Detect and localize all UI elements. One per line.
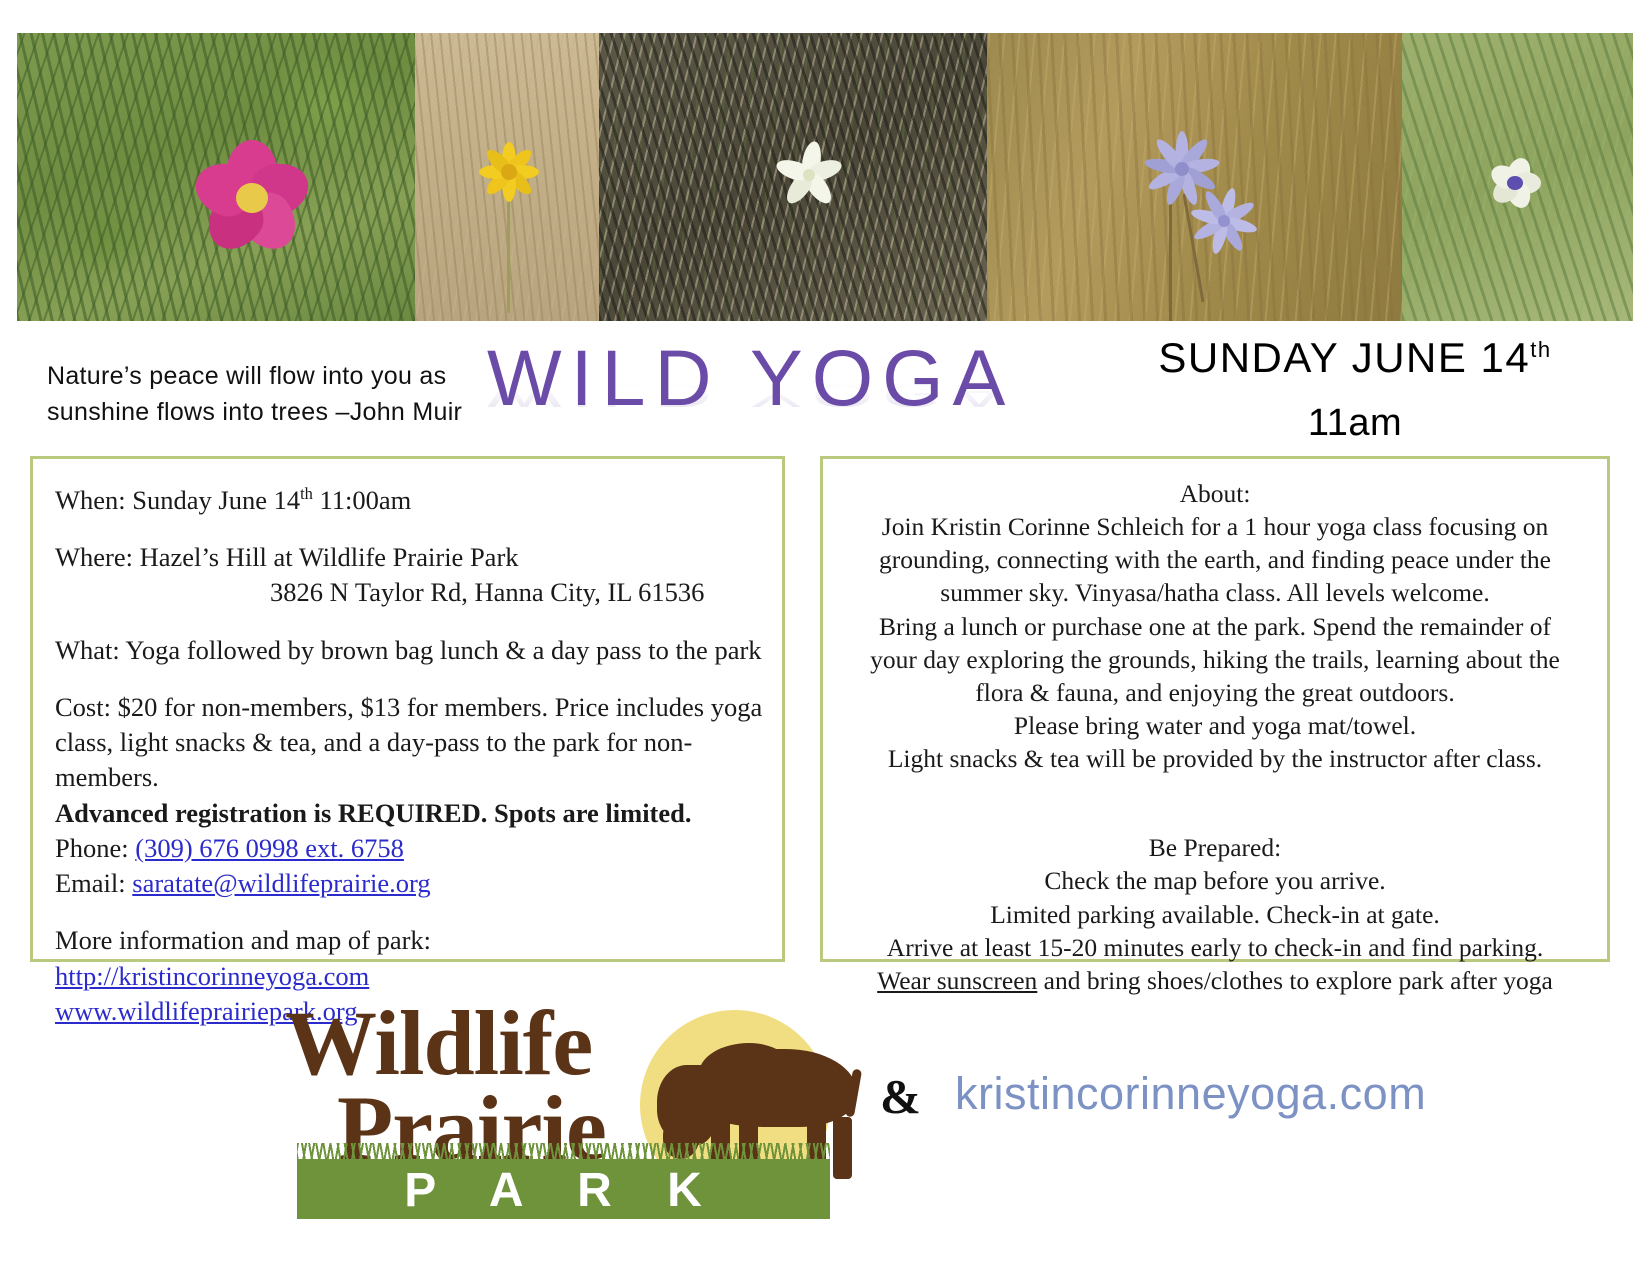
about-line: flora & fauna, and enjoying the great ou… <box>837 676 1593 709</box>
email-line: Email: saratate@wildlifeprairie.org <box>55 866 782 901</box>
be-prepared-heading: Be Prepared: <box>837 831 1593 864</box>
page-title: WILD YOGA <box>487 338 1107 417</box>
when-label: When: <box>55 485 126 515</box>
be-prepared-line: Limited parking available. Check-in at g… <box>837 898 1593 931</box>
purple-flower-bloom-lower <box>1183 181 1265 261</box>
email-label: Email: <box>55 868 132 898</box>
details-box: When: Sunday June 14th 11:00am Where: Ha… <box>30 456 785 962</box>
about-line: your day exploring the grounds, hiking t… <box>837 643 1593 676</box>
yellow-flower-bloom <box>477 141 541 203</box>
when-value: Sunday June 14 <box>132 485 300 515</box>
yoga-url-line: http://kristincorinneyoga.com <box>55 959 782 994</box>
phone-line: Phone: (309) 676 0998 ext. 6758 <box>55 831 782 866</box>
wildlife-prairie-park-logo: Wildlife Prairie P A R K <box>285 995 830 1265</box>
purple-aster-photo <box>987 33 1402 321</box>
ampersand: & <box>880 1068 921 1125</box>
about-box: About: Join Kristin Corinne Schleich for… <box>820 456 1610 962</box>
cost-line-2: class, light snacks & tea, and a day-pas… <box>55 725 782 795</box>
event-date-line: SUNDAY JUNE 14th <box>1125 334 1585 382</box>
yellow-prairie-flower-photo <box>415 33 599 321</box>
about-line: Join Kristin Corinne Schleich for a 1 ho… <box>837 510 1593 543</box>
flyer-page: Nature’s peace will flow into you as sun… <box>0 0 1650 1275</box>
header-photo-strip <box>17 33 1633 321</box>
where-address: 3826 N Taylor Rd, Hanna City, IL 61536 <box>55 575 704 610</box>
where-line: Where: Hazel’s Hill at Wildlife Prairie … <box>55 540 782 575</box>
kristincorinneyoga-link[interactable]: http://kristincorinneyoga.com <box>55 961 369 991</box>
cost-line-1: Cost: $20 for non-members, $13 for membe… <box>55 690 782 725</box>
about-line: Bring a lunch or purchase one at the par… <box>837 610 1593 643</box>
registration-required-line: Advanced registration is REQUIRED. Spots… <box>55 796 782 831</box>
event-date-block: SUNDAY JUNE 14th 11am <box>1125 334 1585 445</box>
wear-sunscreen-text: Wear sunscreen <box>877 966 1037 995</box>
white-flower-bloom <box>771 138 847 212</box>
phone-link[interactable]: (309) 676 0998 ext. 6758 <box>135 833 404 863</box>
when-line: When: Sunday June 14th 11:00am <box>55 483 782 518</box>
event-date-ordinal: th <box>1530 337 1551 362</box>
about-line: Please bring water and yoga mat/towel. <box>837 709 1593 742</box>
white-prairie-flower-photo <box>599 33 987 321</box>
where-address-line: 3826 N Taylor Rd, Hanna City, IL 61536 <box>55 575 782 610</box>
white-purple-flower-photo <box>1402 33 1633 321</box>
kristincorinneyoga-site[interactable]: kristincorinneyoga.com <box>955 1068 1426 1120</box>
email-link[interactable]: saratate@wildlifeprairie.org <box>132 868 430 898</box>
logo-word-park: P A R K <box>297 1163 830 1218</box>
where-value: Hazel’s Hill at Wildlife Prairie Park <box>140 542 519 572</box>
when-time: 11:00am <box>313 485 411 515</box>
sunscreen-rest-text: and bring shoes/clothes to explore park … <box>1037 966 1553 995</box>
event-time-line: 11am <box>1125 402 1585 445</box>
white-purple-flower-bloom <box>1480 151 1550 215</box>
be-prepared-line: Arrive at least 15-20 minutes early to c… <box>837 931 1593 964</box>
be-prepared-line: Check the map before you arrive. <box>837 864 1593 897</box>
john-muir-quote: Nature’s peace will flow into you as sun… <box>47 358 467 431</box>
about-line: grounding, connecting with the earth, an… <box>837 543 1593 576</box>
about-heading: About: <box>837 477 1593 510</box>
about-line: Light snacks & tea will be provided by t… <box>837 742 1593 775</box>
when-ordinal: th <box>300 484 313 503</box>
event-date-text: SUNDAY JUNE 14 <box>1158 334 1530 381</box>
pink-flower-bloom <box>192 143 312 253</box>
what-line: What: Yoga followed by brown bag lunch &… <box>55 633 782 668</box>
about-line: summer sky. Vinyasa/hatha class. All lev… <box>837 576 1593 609</box>
logo-word-wildlife: Wildlife <box>285 1001 665 1086</box>
phone-label: Phone: <box>55 833 135 863</box>
where-label: Where: <box>55 542 133 572</box>
more-info-label: More information and map of park: <box>55 923 782 958</box>
sunscreen-line: Wear sunscreen and bring shoes/clothes t… <box>837 964 1593 997</box>
pink-wild-rose-photo <box>17 33 415 321</box>
